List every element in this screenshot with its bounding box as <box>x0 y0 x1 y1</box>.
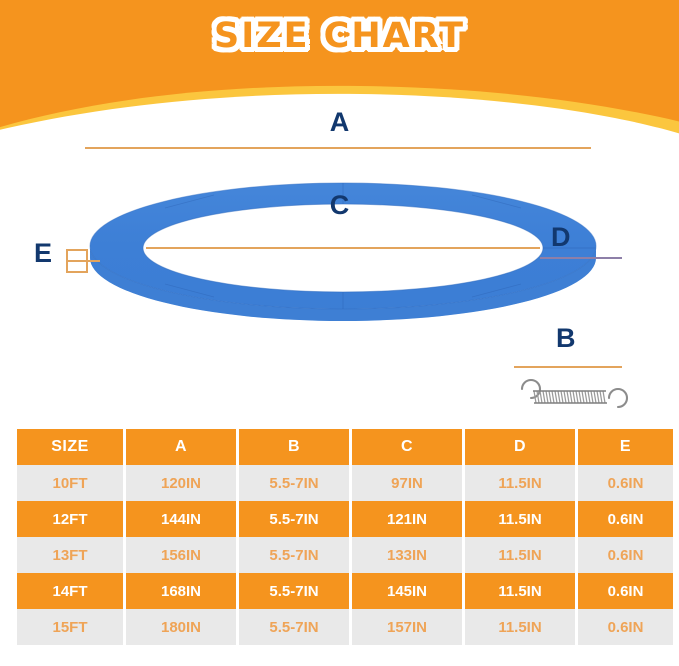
dimension-line-b <box>514 366 622 368</box>
trampoline-pad-graphic <box>0 96 679 426</box>
dimension-e-box <box>66 249 88 273</box>
pad-top-face <box>0 96 679 426</box>
table-row: 12FT 144IN 5.5-7IN 121IN 11.5IN 0.6IN <box>17 501 673 537</box>
cell-d: 11.5IN <box>465 537 575 573</box>
column-header-size: SIZE <box>17 429 123 465</box>
cell-a: 156IN <box>126 537 236 573</box>
cell-b: 5.5-7IN <box>239 537 349 573</box>
table-row: 10FT 120IN 5.5-7IN 97IN 11.5IN 0.6IN <box>17 465 673 501</box>
column-header-b: B <box>239 429 349 465</box>
cell-c: 157IN <box>352 609 462 645</box>
cell-d: 11.5IN <box>465 573 575 609</box>
cell-d: 11.5IN <box>465 465 575 501</box>
cell-e: 0.6IN <box>578 573 673 609</box>
cell-size: 13FT <box>17 537 123 573</box>
cell-c: 97IN <box>352 465 462 501</box>
cell-e: 0.6IN <box>578 537 673 573</box>
column-header-d: D <box>465 429 575 465</box>
size-chart-table: SIZE A B C D E 10FT 120IN 5.5-7IN 97IN 1… <box>14 429 676 645</box>
cell-b: 5.5-7IN <box>239 501 349 537</box>
cell-c: 121IN <box>352 501 462 537</box>
cell-a: 180IN <box>126 609 236 645</box>
cell-a: 168IN <box>126 573 236 609</box>
cell-size: 15FT <box>17 609 123 645</box>
cell-e: 0.6IN <box>578 609 673 645</box>
cell-b: 5.5-7IN <box>239 609 349 645</box>
cell-c: 145IN <box>352 573 462 609</box>
cell-a: 144IN <box>126 501 236 537</box>
table-row: 15FT 180IN 5.5-7IN 157IN 11.5IN 0.6IN <box>17 609 673 645</box>
spring-right-hook <box>609 389 627 407</box>
dimension-label-e: E <box>34 240 52 267</box>
cell-size: 10FT <box>17 465 123 501</box>
dimension-label-d: D <box>551 224 571 251</box>
size-chart-page: SIZE CHART A <box>0 0 679 666</box>
cell-e: 0.6IN <box>578 501 673 537</box>
cell-b: 5.5-7IN <box>239 465 349 501</box>
table-header-row: SIZE A B C D E <box>17 429 673 465</box>
dimension-label-c: C <box>0 192 679 219</box>
column-header-e: E <box>578 429 673 465</box>
column-header-a: A <box>126 429 236 465</box>
spring-coils <box>534 391 605 403</box>
dimension-label-b: B <box>556 325 576 352</box>
table-row: 13FT 156IN 5.5-7IN 133IN 11.5IN 0.6IN <box>17 537 673 573</box>
table-row: 14FT 168IN 5.5-7IN 145IN 11.5IN 0.6IN <box>17 573 673 609</box>
cell-d: 11.5IN <box>465 501 575 537</box>
cell-e: 0.6IN <box>578 465 673 501</box>
cell-a: 120IN <box>126 465 236 501</box>
cell-size: 14FT <box>17 573 123 609</box>
column-header-c: C <box>352 429 462 465</box>
cell-d: 11.5IN <box>465 609 575 645</box>
trampoline-spring-icon <box>505 378 635 418</box>
cell-size: 12FT <box>17 501 123 537</box>
cell-c: 133IN <box>352 537 462 573</box>
cell-b: 5.5-7IN <box>239 573 349 609</box>
product-diagram: A <box>0 96 679 426</box>
